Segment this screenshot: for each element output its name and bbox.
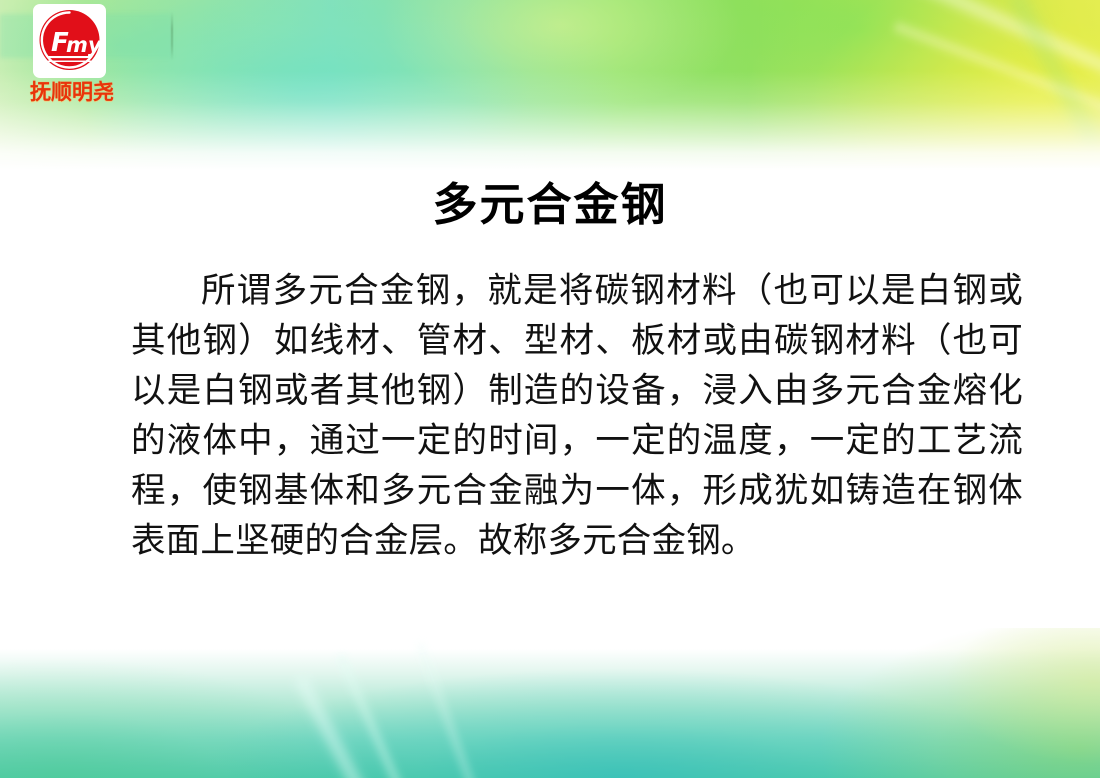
bottom-decorative-band: [0, 628, 1100, 778]
logo-mark-svg: F my: [33, 4, 106, 78]
company-name-label: 抚顺明尧: [12, 81, 132, 104]
presentation-slide: F my 抚顺明尧 多元合金钢 所谓多元合金钢，就是将碳钢材料（也可以是白钢或其…: [0, 0, 1100, 778]
logo-block[interactable]: F my 抚顺明尧: [12, 4, 132, 104]
svg-text:my: my: [66, 33, 103, 57]
company-logo-icon[interactable]: F my: [33, 4, 106, 78]
slide-body-text: 所谓多元合金钢，就是将碳钢材料（也可以是白钢或其他钢）如线材、管材、型材、板材或…: [131, 266, 1023, 566]
band-top-white-fade: [0, 0, 1100, 170]
band-bottom-yellow-right: [0, 628, 1100, 778]
slide-title: 多元合金钢: [0, 168, 1100, 233]
top-decorative-band: [0, 0, 1100, 170]
body-paragraph: 所谓多元合金钢，就是将碳钢材料（也可以是白钢或其他钢）如线材、管材、型材、板材或…: [131, 266, 1023, 566]
